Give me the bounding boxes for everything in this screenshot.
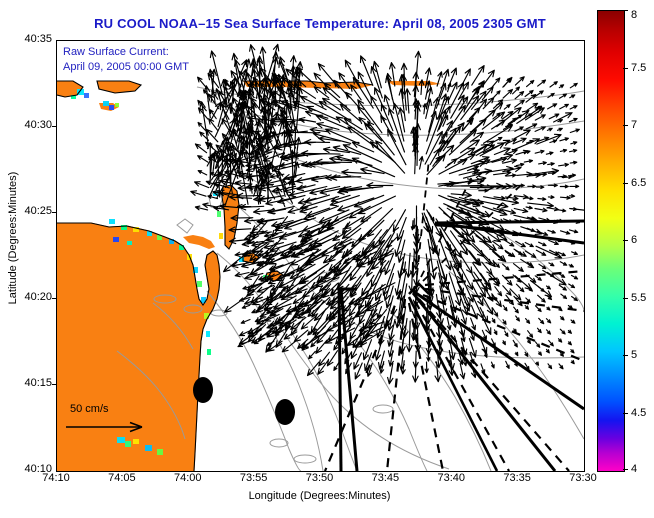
x-tick-label: 74:10 [42,472,70,484]
x-axis-ticks: 74:1074:0574:0073:5573:5073:4573:4073:35… [56,472,596,488]
current-vector [571,350,574,353]
colorbar-tick-mark [623,125,628,126]
colorbar-tick-label: 8 [631,9,637,21]
x-tick-label: 73:55 [240,472,268,484]
y-tick-mark [52,298,57,299]
x-tick-label: 73:45 [372,472,400,484]
colorbar-tick-mark [623,183,628,184]
current-vector [568,342,571,345]
x-tick-label: 73:35 [503,472,531,484]
colorbar-tick-mark [623,469,628,470]
x-tick-label: 74:00 [174,472,202,484]
sst-map-figure: RU COOL NOAA–15 Sea Surface Temperature:… [0,0,654,518]
colorbar-tick-label: 7 [631,119,637,131]
colorbar-tick-mark [623,240,628,241]
colorbar-tick-mark [623,68,628,69]
colorbar-tick-mark [623,10,628,11]
colorbar-tick-mark [623,355,628,356]
map-canvas [57,41,584,471]
figure-title: RU COOL NOAA–15 Sea Surface Temperature:… [56,16,584,31]
x-axis-title: Longitude (Degrees:Minutes) [56,490,583,502]
colorbar: 87.576.565.554.54 Temperature (°C) [597,10,654,470]
masked-dot [193,377,213,403]
masked-dot [275,399,295,425]
y-axis-title: Latitude (Degrees:Minutes) [7,133,19,343]
x-tick-label: 73:50 [306,472,334,484]
colorbar-tick-label: 6.5 [631,177,646,189]
colorbar-tick-mark [623,298,628,299]
y-tick-label: 40:30 [4,119,52,131]
colorbar-tick-label: 4.5 [631,407,646,419]
x-tick-label: 73:30 [569,472,597,484]
y-tick-mark [52,126,57,127]
y-tick-mark [52,384,57,385]
y-tick-label: 40:15 [4,377,52,389]
colorbar-tick-label: 6 [631,234,637,246]
colorbar-tick-label: 4 [631,463,637,475]
y-tick-mark [52,212,57,213]
x-tick-label: 74:05 [108,472,136,484]
colorbar-tick-label: 7.5 [631,62,646,74]
y-tick-label: 40:35 [4,33,52,45]
colorbar-tick-mark [623,413,628,414]
map-plot-area: Raw Surface Current: April 09, 2005 00:0… [56,40,585,472]
colorbar-gradient [597,10,625,472]
x-tick-label: 73:40 [437,472,465,484]
colorbar-tick-label: 5.5 [631,292,646,304]
colorbar-tick-label: 5 [631,349,637,361]
